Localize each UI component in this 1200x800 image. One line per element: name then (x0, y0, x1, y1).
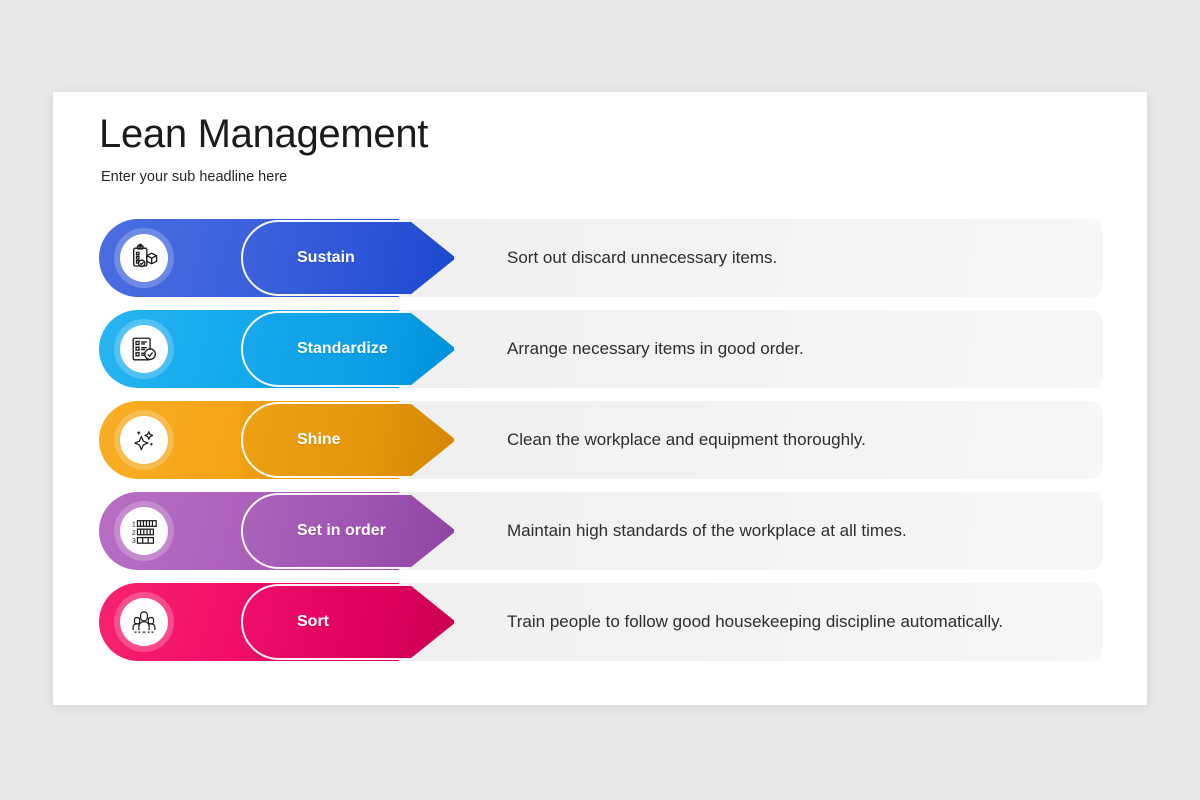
row-label: Sustain (297, 249, 355, 267)
sparkles-icon (120, 416, 168, 464)
row-label: Standardize (297, 340, 388, 358)
svg-text:2: 2 (132, 530, 136, 537)
icon-ring: 1 2 3 (114, 501, 174, 561)
numbered-shelf-icon: 1 2 3 (120, 507, 168, 555)
row-description: Clean the workplace and equipment thorou… (507, 401, 866, 479)
icon-ring (114, 228, 174, 288)
icon-ring (114, 319, 174, 379)
icon-ring (114, 592, 174, 652)
process-row[interactable]: Sort out discard unnecessary items. (99, 219, 1103, 297)
people-group-icon (120, 598, 168, 646)
checklist-approved-icon (120, 325, 168, 373)
page-subtitle: Enter your sub headline here (101, 169, 428, 185)
row-description: Train people to follow good housekeeping… (507, 583, 1003, 661)
process-row[interactable]: Clean the workplace and equipment thorou… (99, 401, 1103, 479)
process-row-list: Sort out discard unnecessary items. (99, 219, 1103, 674)
process-row[interactable]: Train people to follow good housekeeping… (99, 583, 1103, 661)
process-row[interactable]: Arrange necessary items in good order. (99, 310, 1103, 388)
row-label: Set in order (297, 522, 386, 540)
slide: Lean Management Enter your sub headline … (53, 92, 1147, 705)
clipboard-box-icon (120, 234, 168, 282)
row-description: Arrange necessary items in good order. (507, 310, 804, 388)
row-description: Maintain high standards of the workplace… (507, 492, 907, 570)
svg-text:3: 3 (132, 538, 136, 545)
row-label: Sort (297, 613, 329, 631)
row-description: Sort out discard unnecessary items. (507, 219, 777, 297)
row-label: Shine (297, 431, 341, 449)
slide-header: Lean Management Enter your sub headline … (99, 112, 428, 185)
svg-text:1: 1 (132, 521, 136, 528)
icon-ring (114, 410, 174, 470)
process-row[interactable]: Maintain high standards of the workplace… (99, 492, 1103, 570)
page-title: Lean Management (99, 112, 428, 156)
